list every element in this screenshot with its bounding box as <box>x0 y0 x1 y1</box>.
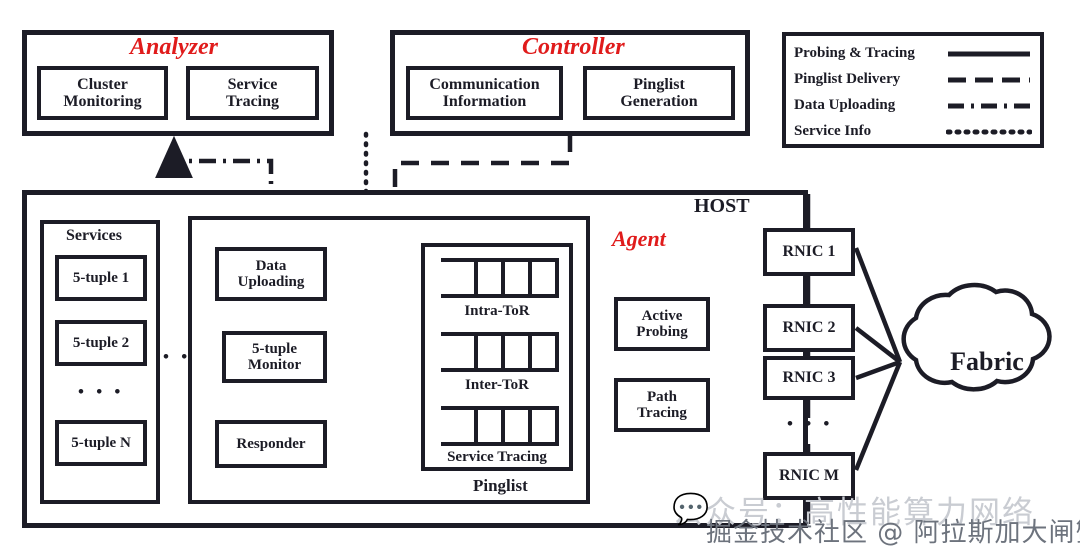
queue-cell <box>501 336 528 368</box>
legend-item-data-uploading-label: Data Uploading <box>794 97 895 114</box>
legend-item-data-uploading: Data Uploading <box>794 94 1032 117</box>
services-item-5-tuple-1[interactable] <box>55 255 147 301</box>
legend-item-pinglist-delivery-label: Pinglist Delivery <box>794 71 900 88</box>
host-title: HOST <box>694 195 750 218</box>
queue-cell <box>441 336 474 368</box>
analyzer-title: Analyzer <box>130 34 218 61</box>
pinglist-queue-intra-tor[interactable] <box>441 258 559 298</box>
rnic-item-1[interactable] <box>763 228 855 276</box>
pinglist-title: Pinglist <box>473 476 528 496</box>
fabric-label: Fabric <box>916 342 1058 382</box>
legend-item-pinglist-delivery: Pinglist Delivery <box>794 68 1032 91</box>
rnic-item-2[interactable] <box>763 304 855 352</box>
agent-module-data-uploading[interactable] <box>215 247 327 301</box>
services-ellipsis: • • • <box>78 382 124 402</box>
queue-cell <box>528 262 555 294</box>
legend-sample-dotted <box>946 125 1032 139</box>
analyzer-module-cluster-monitoring[interactable] <box>37 66 168 120</box>
queue-cell <box>474 262 501 294</box>
rnic-item-3[interactable] <box>763 356 855 400</box>
queue-cell <box>441 262 474 294</box>
pinglist-queue-inter-tor[interactable] <box>441 332 559 372</box>
queue-cell <box>501 410 528 442</box>
queue-cell <box>474 410 501 442</box>
controller-module-pinglist-generation[interactable] <box>583 66 735 120</box>
queue-cell <box>528 336 555 368</box>
agent-module-path-tracing[interactable] <box>614 378 710 432</box>
legend-item-probing-tracing: Probing & Tracing <box>794 42 1032 65</box>
legend-sample-dash-dot <box>946 99 1032 113</box>
queue-cell <box>501 262 528 294</box>
pinglist-queue-service-tracing[interactable] <box>441 406 559 446</box>
queue-cell <box>474 336 501 368</box>
agent-module-active-probing[interactable] <box>614 297 710 351</box>
agent-module-5-tuple-monitor[interactable] <box>222 331 327 383</box>
controller-title: Controller <box>522 34 625 61</box>
rnic-item-m[interactable] <box>763 452 855 500</box>
architecture-diagram: Analyzer Cluster Monitoring Service Trac… <box>0 0 1080 551</box>
services-item-5-tuple-2[interactable] <box>55 320 147 366</box>
agent-title: Agent <box>612 226 666 252</box>
controller-module-communication-information[interactable] <box>406 66 563 120</box>
queue-cell <box>528 410 555 442</box>
agent-module-responder[interactable] <box>215 420 327 468</box>
rnic-ellipsis: • • • <box>787 414 833 434</box>
analyzer-module-service-tracing[interactable] <box>186 66 319 120</box>
legend-sample-dashed <box>946 73 1032 87</box>
services-title: Services <box>66 227 122 245</box>
legend-item-probing-tracing-label: Probing & Tracing <box>794 45 915 62</box>
legend-item-service-info: Service Info <box>794 120 1032 143</box>
legend-sample-solid <box>946 47 1032 61</box>
services-item-5-tuple-n[interactable] <box>55 420 147 466</box>
wechat-icon: 💬 <box>672 492 709 527</box>
queue-cell <box>441 410 474 442</box>
wire-rnic-to-fabric <box>856 248 900 470</box>
fabric-cloud <box>904 285 1050 389</box>
legend-item-service-info-label: Service Info <box>794 123 871 140</box>
